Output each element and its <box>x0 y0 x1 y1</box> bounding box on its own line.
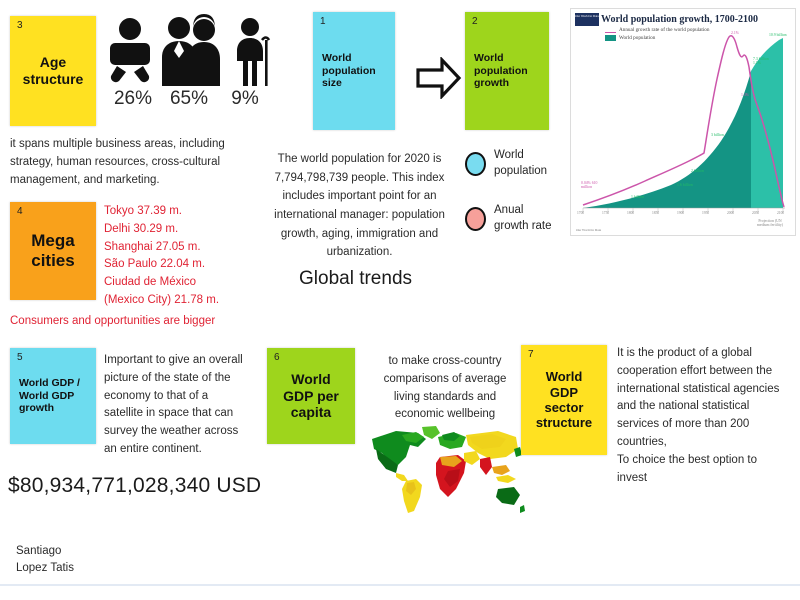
legend-label: World population <box>494 148 547 179</box>
percentage-children: 26% <box>106 88 160 110</box>
x-tick-label: 2000 <box>727 211 734 215</box>
block-world-gdp-per-capita[interactable]: 6 World GDP per capita <box>267 348 355 444</box>
mega-cities-caption: Consumers and opportunities are bigger <box>10 313 260 331</box>
chart-source-note: Our World in Data <box>576 228 601 232</box>
block-label: World population size <box>313 52 382 89</box>
chart-annotation: 3 billion <box>711 133 724 137</box>
chart-annotation: 0.04% 610 million <box>581 181 603 189</box>
gdp-per-capita-world-map <box>366 423 526 519</box>
block-number: 2 <box>472 16 478 28</box>
slide-canvas: 3 Age structure 26% 65% <box>0 0 800 600</box>
block-number: 4 <box>17 206 23 218</box>
block-number: 7 <box>528 349 534 361</box>
world-gdp-growth-description: Important to give an overall picture of … <box>104 352 244 459</box>
block-label: Age structure <box>17 54 90 87</box>
block-world-gdp-growth[interactable]: 5 World GDP / World GDP growth <box>10 348 96 444</box>
chart-plot <box>571 9 796 236</box>
legend-circle-icon <box>465 152 486 176</box>
block-number: 5 <box>17 352 23 364</box>
chart-projection-label: Projection (UN medium fertility) <box>753 219 787 227</box>
age-structure-description: it spans multiple business areas, includ… <box>10 136 232 189</box>
list-item: Delhi 30.29 m. <box>104 221 254 239</box>
age-structure-percentages: 26% 65% 9% <box>100 88 270 114</box>
x-tick-label: 1950 <box>702 211 709 215</box>
right-arrow-icon <box>414 57 462 99</box>
chart-footnote: Our World in Data <box>576 228 791 233</box>
chart-annotation: 2.1% <box>731 31 739 35</box>
list-item: Shanghai 27.05 m. <box>104 239 254 257</box>
world-population-growth-chart[interactable]: Our World in Data World population growt… <box>570 8 796 236</box>
block-world-population-size[interactable]: 1 World population size <box>313 12 395 130</box>
legend-label: Anual growth rate <box>494 203 552 234</box>
x-tick-label: 1750 <box>602 211 609 215</box>
list-item: Tokyo 37.39 m. <box>104 203 254 221</box>
chart-annotation: 10.9 billion <box>769 33 787 37</box>
percentage-elderly: 9% <box>222 88 268 110</box>
chart-annotation: 2 billion <box>691 169 704 173</box>
chart-annotation: 7.3 billion 1.1% <box>753 57 777 65</box>
x-tick-label: 1800 <box>627 211 634 215</box>
chart-annotation: 1.6 billion <box>677 183 693 187</box>
block-world-gdp-sector-structure[interactable]: 7 World GDP sector structure <box>521 345 607 455</box>
block-mega-cities[interactable]: 4 Mega cities <box>10 202 96 300</box>
legend-circle-icon <box>465 207 486 231</box>
block-world-population-growth[interactable]: 2 World population growth <box>465 12 549 130</box>
list-item: Ciudad de México <box>104 274 254 292</box>
global-trends-label: Global trends <box>299 268 412 290</box>
block-label: World GDP sector structure <box>530 369 598 430</box>
world-gdp-value: $80,934,771,028,340 USD <box>8 474 261 498</box>
block-label: World GDP / World GDP growth <box>10 377 86 414</box>
author-signature: Santiago Lopez Tatis <box>16 543 74 578</box>
world-population-size-description: The world population for 2020 is 7,794,7… <box>262 150 457 262</box>
legend-annual-growth-rate: Anual growth rate <box>465 203 552 234</box>
percentage-adults: 65% <box>162 88 216 110</box>
x-tick-label: 2100 <box>777 211 784 215</box>
baby-icon <box>105 16 155 86</box>
x-tick-label: 1700 <box>577 211 584 215</box>
block-number: 6 <box>274 352 280 364</box>
elderly-person-icon <box>232 16 274 88</box>
age-structure-icons <box>100 14 270 86</box>
x-tick-label: 1900 <box>677 211 684 215</box>
block-age-structure[interactable]: 3 Age structure <box>10 16 96 126</box>
block-label: World GDP per capita <box>277 371 345 421</box>
adult-couple-icon <box>160 14 222 88</box>
mega-cities-list: Tokyo 37.39 m. Delhi 30.29 m. Shanghai 2… <box>104 203 254 310</box>
world-gdp-sector-structure-description: It is the product of a global cooperatio… <box>617 345 783 488</box>
slide-bottom-rule <box>0 584 800 600</box>
block-label: Mega cities <box>25 231 80 271</box>
x-tick-label: 2050 <box>752 211 759 215</box>
x-tick-label: 1850 <box>652 211 659 215</box>
block-number: 3 <box>17 20 23 32</box>
list-item: São Paulo 22.04 m. <box>104 256 254 274</box>
chart-annotation: 1 billion <box>631 195 644 199</box>
list-item: (Mexico City) 21.78 m. <box>104 292 254 310</box>
world-gdp-per-capita-description: to make cross-country comparisons of ave… <box>370 353 520 424</box>
author-first-name: Santiago <box>16 543 74 560</box>
author-last-name: Lopez Tatis <box>16 560 74 577</box>
chart-annotation: 1.3% <box>741 93 749 97</box>
legend-world-population: World population <box>465 148 547 179</box>
block-number: 1 <box>320 16 326 28</box>
block-label: World population growth <box>465 52 534 89</box>
